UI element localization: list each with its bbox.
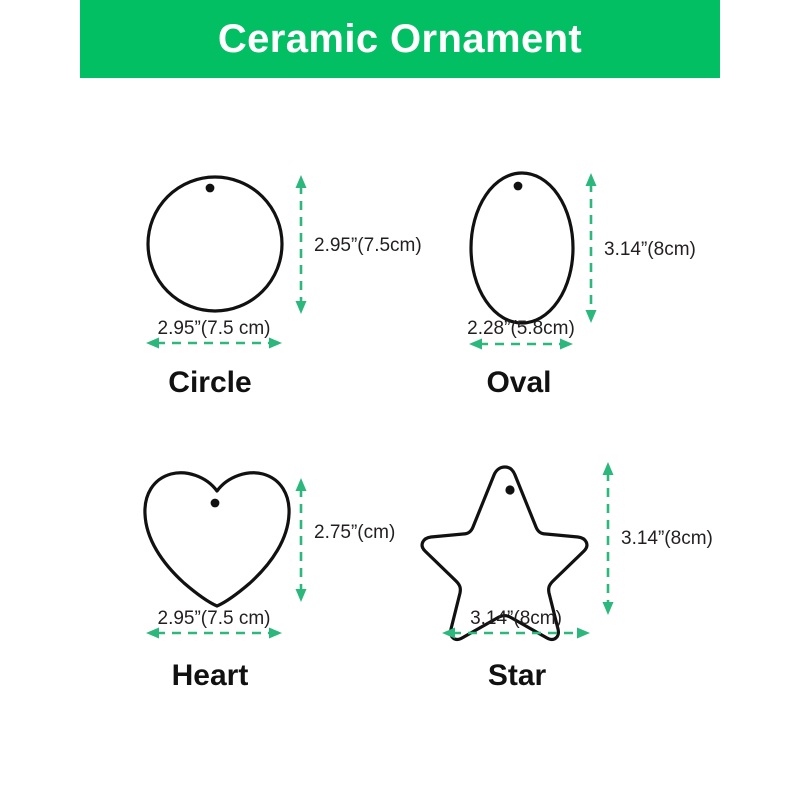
arrow-down-icon: [603, 602, 614, 615]
product-spec-page: Ceramic Ornament 2.95”(7.5cm): [0, 0, 800, 800]
circle-outline: [148, 177, 282, 311]
oval-height-dimension: 3.14”(8cm): [586, 173, 696, 323]
oval-outline: [471, 173, 573, 323]
heart-width-dimension: 2.95”(7.5 cm): [146, 608, 282, 639]
ornament-shapes-diagram: 2.95”(7.5cm) 2.95”(7.5 cm) Circle: [0, 0, 800, 800]
shape-label-star: Star: [488, 659, 547, 692]
arrow-right-icon: [560, 339, 573, 350]
arrow-down-icon: [586, 310, 597, 323]
shape-group-star: 3.14”(8cm) 3.14”(8cm) Star: [422, 462, 713, 692]
shape-group-oval: 3.14”(8cm) 2.28”(5.8cm) Oval: [467, 173, 696, 399]
arrow-left-icon: [469, 339, 482, 350]
heart-height-dimension: 2.75”(cm): [296, 478, 396, 602]
arrow-up-icon: [296, 478, 307, 491]
heart-outline: [145, 473, 289, 606]
arrow-right-icon: [269, 338, 282, 349]
arrow-right-icon: [577, 628, 590, 639]
arrow-left-icon: [146, 628, 159, 639]
arrow-left-icon: [442, 628, 455, 639]
circle-width-dimension: 2.95”(7.5 cm): [146, 318, 282, 349]
oval-height-label: 3.14”(8cm): [604, 239, 696, 260]
circle-height-dimension: 2.95”(7.5cm): [296, 175, 422, 314]
arrow-up-icon: [296, 175, 307, 188]
heart-height-label: 2.75”(cm): [314, 522, 395, 543]
circle-width-label: 2.95”(7.5 cm): [158, 318, 271, 339]
circle-height-label: 2.95”(7.5cm): [314, 235, 422, 256]
arrow-down-icon: [296, 589, 307, 602]
heart-hanging-hole-icon: [211, 499, 220, 508]
shape-label-heart: Heart: [172, 659, 249, 692]
heart-width-label: 2.95”(7.5 cm): [158, 608, 271, 629]
circle-hanging-hole-icon: [206, 184, 215, 193]
oval-width-dimension: 2.28”(5.8cm): [467, 318, 575, 350]
star-height-label: 3.14”(8cm): [621, 528, 713, 549]
shape-group-heart: 2.75”(cm) 2.95”(7.5 cm) Heart: [145, 473, 395, 692]
oval-hanging-hole-icon: [514, 182, 523, 191]
shape-label-oval: Oval: [486, 366, 551, 399]
star-height-dimension: 3.14”(8cm): [603, 462, 713, 615]
shape-group-circle: 2.95”(7.5cm) 2.95”(7.5 cm) Circle: [146, 175, 422, 399]
shape-label-circle: Circle: [168, 366, 251, 399]
arrow-up-icon: [586, 173, 597, 186]
arrow-right-icon: [269, 628, 282, 639]
oval-width-label: 2.28”(5.8cm): [467, 318, 575, 339]
arrow-left-icon: [146, 338, 159, 349]
arrow-up-icon: [603, 462, 614, 475]
arrow-down-icon: [296, 301, 307, 314]
shapes-svg: 2.95”(7.5cm) 2.95”(7.5 cm) Circle: [0, 0, 800, 800]
star-width-label: 3.14”(8cm): [470, 608, 562, 629]
star-hanging-hole-icon: [505, 485, 514, 494]
